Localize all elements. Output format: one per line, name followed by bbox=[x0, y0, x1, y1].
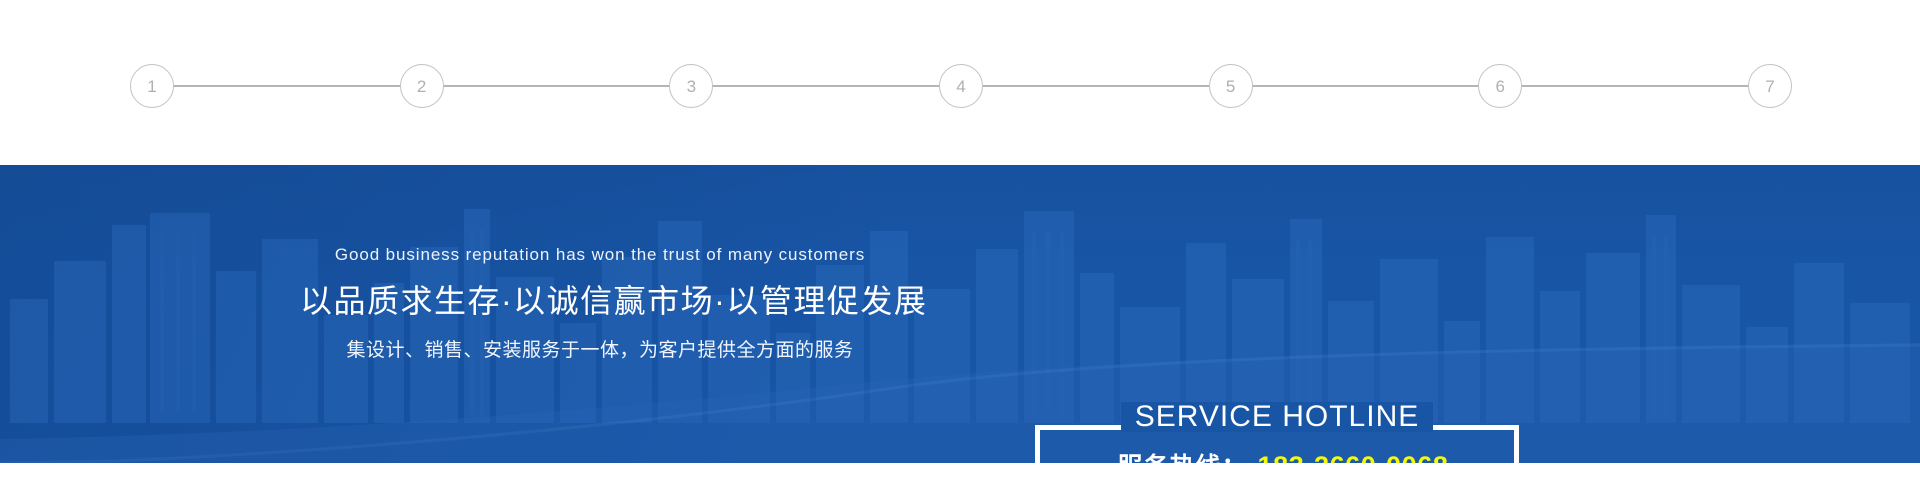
pagination-item-label: 3 bbox=[687, 78, 696, 95]
pagination-item-label: 1 bbox=[147, 78, 156, 95]
slogan-subtitle: 集设计、销售、安装服务于一体，为客户提供全方面的服务 bbox=[300, 335, 900, 362]
service-hotline-box: SERVICE HOTLINE 服务热线： 183-2660-0068 服务热线… bbox=[1035, 425, 1519, 463]
slogan-block: Good business reputation has won the tru… bbox=[300, 245, 900, 362]
pagination-strip: 1 2 3 4 5 6 7 bbox=[0, 0, 1920, 165]
pagination-item-label: 5 bbox=[1226, 78, 1235, 95]
pagination-item-6[interactable]: 6 bbox=[1478, 64, 1522, 108]
pagination-item-5[interactable]: 5 bbox=[1209, 64, 1253, 108]
promo-banner: Good business reputation has won the tru… bbox=[0, 165, 1920, 463]
pagination-item-7[interactable]: 7 bbox=[1748, 64, 1792, 108]
pagination-item-label: 2 bbox=[417, 78, 426, 95]
pagination-item-3[interactable]: 3 bbox=[669, 64, 713, 108]
pagination-item-4[interactable]: 4 bbox=[939, 64, 983, 108]
pagination-item-1[interactable]: 1 bbox=[130, 64, 174, 108]
slogan-english: Good business reputation has won the tru… bbox=[300, 245, 900, 265]
slogan-chinese: 以品质求生存·以诚信赢市场·以管理促发展 bbox=[300, 276, 900, 322]
pagination-item-2[interactable]: 2 bbox=[400, 64, 444, 108]
pagination-item-label: 6 bbox=[1496, 78, 1505, 95]
hotline-label: 服务热线： bbox=[1106, 447, 1258, 463]
pagination: 1 2 3 4 5 6 7 bbox=[130, 64, 1792, 108]
pagination-item-label: 7 bbox=[1765, 78, 1774, 95]
pagination-item-label: 4 bbox=[956, 78, 965, 95]
hotline-numbers: 服务热线： 183-2660-0068 服务热线： 0551-63749777 bbox=[1035, 447, 1519, 463]
hotline-number-primary[interactable]: 183-2660-0068 bbox=[1258, 451, 1449, 463]
hotline-row-primary: 服务热线： 183-2660-0068 bbox=[1106, 447, 1449, 463]
